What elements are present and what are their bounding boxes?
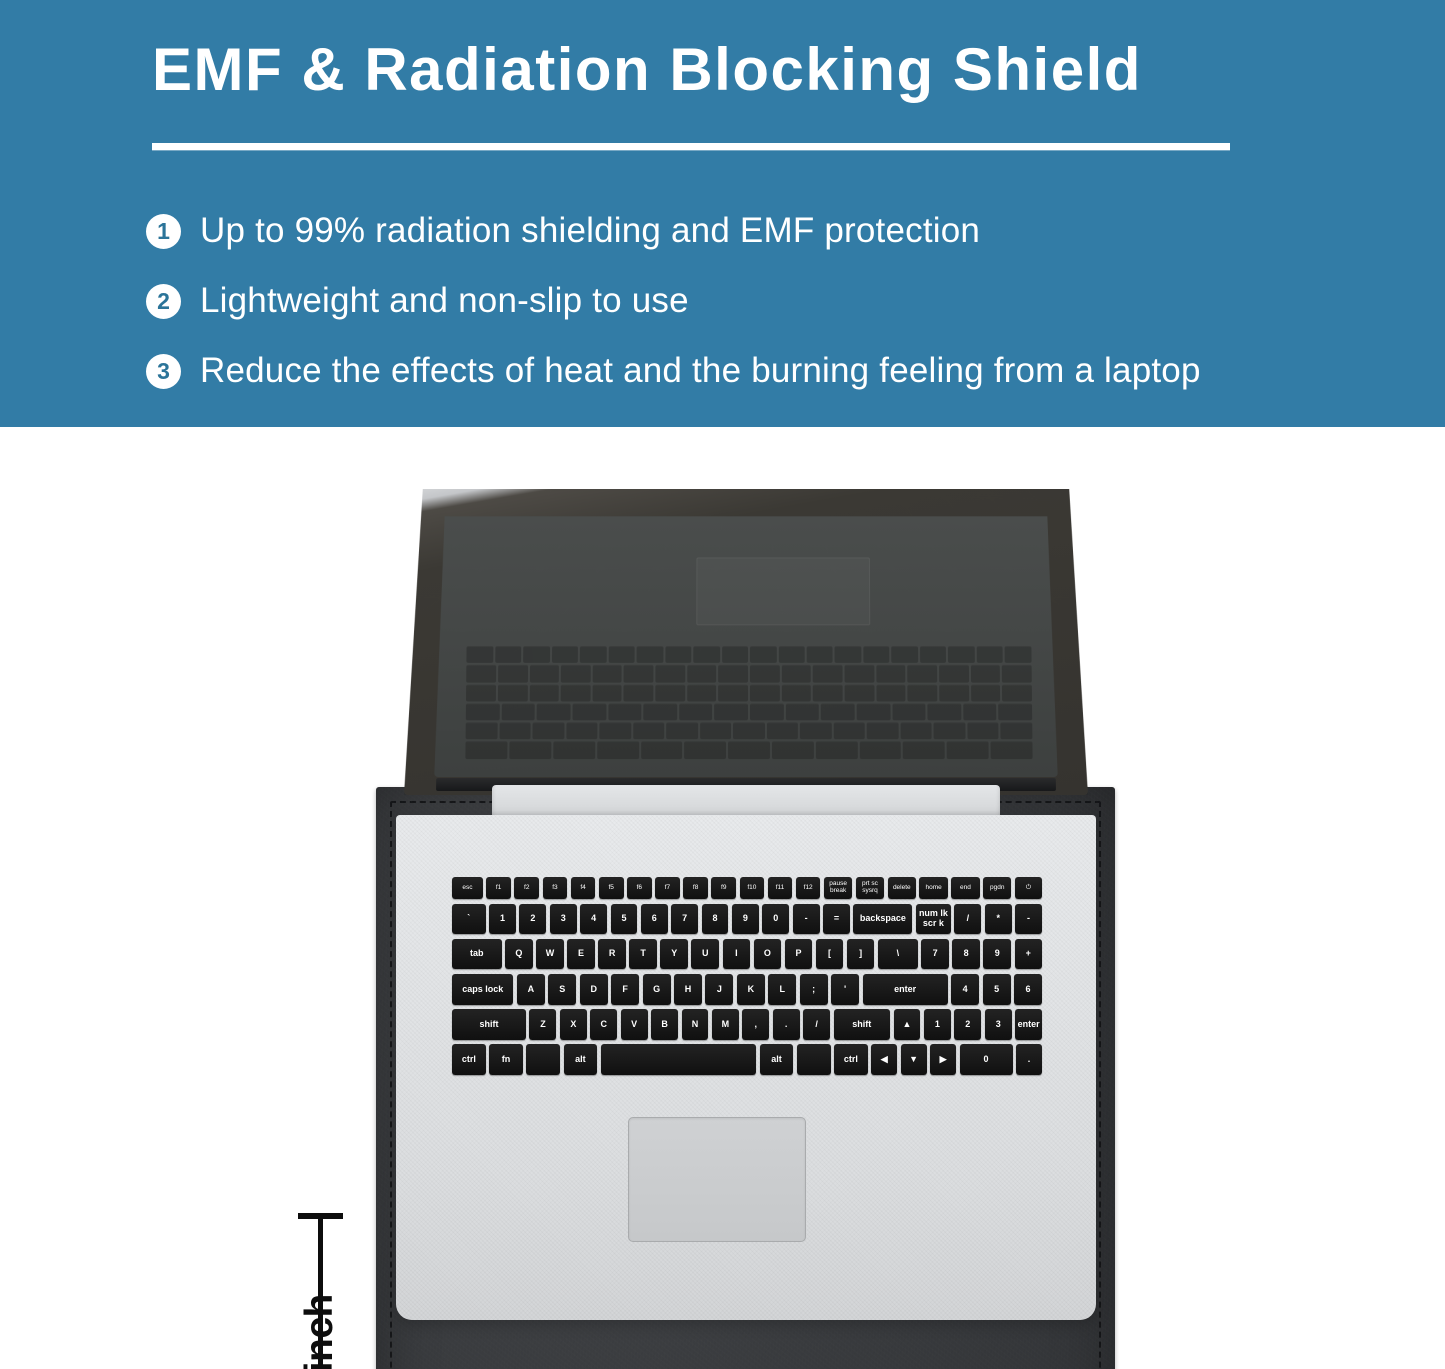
height-dimension: 19.81cm/7.8inch: [290, 1213, 350, 1369]
reflection-key: [600, 722, 632, 739]
reflection-key: [1005, 646, 1032, 663]
key: num lk scr k: [916, 904, 951, 935]
height-dimension-label: 19.81cm/7.8inch: [298, 1200, 342, 1369]
reflection-key: [592, 665, 622, 682]
laptop-lid: [404, 489, 1088, 795]
reflection-key: [656, 665, 686, 682]
key: 2: [519, 904, 546, 935]
key: f1: [486, 877, 511, 899]
reflection-key: [920, 646, 946, 663]
key: E: [567, 939, 595, 970]
screen-reflection-keyboard: [466, 646, 1033, 759]
key: [526, 1044, 560, 1075]
key: O: [754, 939, 782, 970]
reflection-key: [772, 741, 814, 758]
key: *: [985, 904, 1012, 935]
key: \: [878, 939, 918, 970]
key: f11: [768, 877, 793, 899]
key: f9: [711, 877, 736, 899]
key: Q: [505, 939, 533, 970]
key: .: [773, 1009, 800, 1040]
reflection-key: [498, 684, 528, 701]
key: ⏻: [1015, 877, 1042, 899]
reflection-key: [863, 646, 889, 663]
reflection-key: [561, 684, 591, 701]
feature-list: 1 Up to 99% radiation shielding and EMF …: [146, 196, 1406, 406]
reflection-key-row: [466, 741, 1033, 758]
reflection-key: [466, 722, 498, 739]
reflection-key: [733, 722, 764, 739]
key: A: [517, 974, 545, 1005]
reflection-key: [700, 722, 731, 739]
key: ▲: [894, 1009, 921, 1040]
reflection-key: [786, 703, 820, 720]
laptop-base: escf1f2f3f4f5f6f7f8f9f10f11f12pause brea…: [396, 815, 1096, 1320]
key: shift: [834, 1009, 891, 1040]
key: R: [598, 939, 626, 970]
reflection-key: [859, 741, 901, 758]
reflection-key: [821, 703, 855, 720]
key: enter: [1015, 1009, 1042, 1040]
key: =: [823, 904, 850, 935]
reflection-key: [845, 665, 875, 682]
reflection-key: [499, 722, 531, 739]
reflection-key: [991, 741, 1033, 758]
key: end: [951, 877, 979, 899]
key: f5: [599, 877, 624, 899]
reflection-key: [722, 646, 748, 663]
reflection-key: [466, 684, 496, 701]
reflection-key: [719, 684, 749, 701]
key: ]: [847, 939, 875, 970]
feature-text-3: Reduce the effects of heat and the burni…: [200, 351, 1406, 391]
key: 6: [1014, 974, 1042, 1005]
key: C: [590, 1009, 617, 1040]
reflection-key: [1002, 684, 1032, 701]
reflection-key: [608, 703, 642, 720]
reflection-key: [867, 722, 899, 739]
key: tab: [452, 939, 502, 970]
key: backspace: [853, 904, 912, 935]
reflection-key-row: [467, 646, 1032, 663]
key: f4: [571, 877, 596, 899]
key: ,: [742, 1009, 769, 1040]
key: W: [536, 939, 564, 970]
key: [: [816, 939, 844, 970]
keyboard-row-number: `1234567890-=backspacenum lk scr k/*-: [452, 904, 1042, 935]
feature-item-3: 3 Reduce the effects of heat and the bur…: [146, 336, 1406, 406]
key: 8: [952, 939, 980, 970]
reflection-key: [529, 684, 559, 701]
key: alt: [564, 1044, 598, 1075]
page-title: EMF & Radiation Blocking Shield: [152, 38, 1332, 101]
reflection-key: [876, 665, 906, 682]
reflection-key: [782, 684, 812, 701]
reflection-key: [1001, 722, 1033, 739]
reflection-key-row: [466, 703, 1032, 720]
reflection-key: [892, 703, 926, 720]
key: 4: [951, 974, 979, 1005]
reflection-key: [876, 684, 906, 701]
key: 1: [924, 1009, 951, 1040]
key: X: [560, 1009, 587, 1040]
key: 7: [921, 939, 949, 970]
key: prt sc sysrq: [856, 877, 884, 899]
number-badge-1-icon: 1: [146, 214, 181, 249]
key: f12: [796, 877, 821, 899]
key: [601, 1044, 756, 1075]
reflection-key: [597, 741, 639, 758]
feature-text-2: Lightweight and non-slip to use: [200, 281, 1406, 321]
key: I: [723, 939, 751, 970]
reflection-key: [947, 741, 989, 758]
key: delete: [888, 877, 916, 899]
reflection-key: [834, 722, 866, 739]
reflection-key: [684, 741, 726, 758]
key: 2: [954, 1009, 981, 1040]
reflection-key: [927, 703, 961, 720]
key: V: [621, 1009, 648, 1040]
key: ▼: [901, 1044, 927, 1075]
key: Z: [529, 1009, 556, 1040]
reflection-key: [835, 646, 861, 663]
product-infographic: EMF & Radiation Blocking Shield 1 Up to …: [0, 0, 1445, 1369]
key: 7: [671, 904, 698, 935]
key: G: [643, 974, 671, 1005]
key: U: [691, 939, 719, 970]
key: 1: [489, 904, 516, 935]
key: 5: [983, 974, 1011, 1005]
reflection-key: [728, 741, 770, 758]
reflection-key: [552, 646, 578, 663]
key: alt: [760, 1044, 794, 1075]
key: ctrl: [452, 1044, 486, 1075]
reflection-key: [592, 684, 622, 701]
key: ▶: [930, 1044, 956, 1075]
reflection-key: [637, 646, 663, 663]
reflection-key: [998, 703, 1032, 720]
laptop-screen: [434, 516, 1058, 777]
key: 5: [611, 904, 638, 935]
reflection-key: [466, 741, 508, 758]
key: F: [611, 974, 639, 1005]
reflection-key: [693, 646, 719, 663]
reflection-key: [665, 646, 691, 663]
reflection-key: [679, 703, 713, 720]
reflection-key: [977, 646, 1004, 663]
reflection-key: [608, 646, 634, 663]
keyboard-row-home: caps lockASDFGHJKL;'enter456: [452, 974, 1042, 1005]
reflection-key: [466, 665, 496, 682]
reflection-key: [845, 684, 875, 701]
reflection-key: [782, 665, 812, 682]
reflection-key-row: [466, 722, 1033, 739]
reflection-key: [509, 741, 551, 758]
key: +: [1015, 939, 1043, 970]
keyboard-row-shift: shiftZXCVBNM,./shift▲123enter: [452, 1009, 1042, 1040]
reflection-key-row: [466, 684, 1032, 701]
reflection-key: [767, 722, 798, 739]
key: 4: [580, 904, 607, 935]
reflection-key: [750, 646, 776, 663]
key: 9: [732, 904, 759, 935]
key: -: [793, 904, 820, 935]
reflection-key: [813, 665, 843, 682]
reflection-key: [719, 665, 749, 682]
reflection-key: [715, 703, 749, 720]
reflection-key: [553, 741, 595, 758]
reflection-key: [857, 703, 891, 720]
key: f10: [740, 877, 765, 899]
reflection-key: [807, 646, 833, 663]
reflection-key: [641, 741, 683, 758]
key: Y: [660, 939, 688, 970]
key: -: [1015, 904, 1042, 935]
reflection-key: [963, 703, 997, 720]
key: ': [831, 974, 859, 1005]
key: f2: [514, 877, 539, 899]
reflection-key: [467, 646, 494, 663]
reflection-key: [939, 665, 969, 682]
reflection-key: [666, 722, 697, 739]
key: 3: [985, 1009, 1012, 1040]
key: 0: [762, 904, 789, 935]
key: /: [803, 1009, 830, 1040]
key: J: [705, 974, 733, 1005]
key: 8: [702, 904, 729, 935]
key: enter: [863, 974, 948, 1005]
reflection-key: [644, 703, 678, 720]
reflection-key-row: [466, 665, 1031, 682]
number-badge-3-icon: 3: [146, 354, 181, 389]
reflection-key: [934, 722, 966, 739]
reflection-key: [750, 665, 780, 682]
reflection-key: [750, 684, 780, 701]
key: S: [548, 974, 576, 1005]
reflection-key: [750, 703, 784, 720]
key: [797, 1044, 831, 1075]
key: pgdn: [983, 877, 1011, 899]
reflection-key: [903, 741, 945, 758]
reflection-key: [971, 665, 1001, 682]
feature-item-1: 1 Up to 99% radiation shielding and EMF …: [146, 196, 1406, 266]
number-badge-2-icon: 2: [146, 284, 181, 319]
key: /: [954, 904, 981, 935]
reflection-key: [566, 722, 598, 739]
reflection-key: [687, 684, 717, 701]
reflection-key: [523, 646, 549, 663]
key: ◀: [871, 1044, 897, 1075]
reflection-key: [655, 684, 685, 701]
key: P: [785, 939, 813, 970]
key: 9: [983, 939, 1011, 970]
key: home: [919, 877, 947, 899]
reflection-key: [971, 684, 1001, 701]
key: esc: [452, 877, 483, 899]
reflection-key: [939, 684, 969, 701]
key: f8: [683, 877, 708, 899]
reflection-key: [908, 684, 938, 701]
laptop-keyboard: escf1f2f3f4f5f6f7f8f9f10f11f12pause brea…: [452, 877, 1042, 1075]
key: 0: [960, 1044, 1013, 1075]
reflection-key: [498, 665, 528, 682]
header-banner: EMF & Radiation Blocking Shield 1 Up to …: [0, 0, 1445, 427]
key: `: [452, 904, 486, 935]
product-photo: escf1f2f3f4f5f6f7f8f9f10f11f12pause brea…: [0, 427, 1445, 1369]
key: .: [1016, 1044, 1042, 1075]
keyboard-row-bottom: ctrlfnaltaltctrl◀▼▶0.: [452, 1044, 1042, 1075]
key: H: [674, 974, 702, 1005]
key: B: [651, 1009, 678, 1040]
key: shift: [452, 1009, 526, 1040]
reflection-key: [813, 684, 843, 701]
reflection-key: [948, 646, 974, 663]
key: L: [768, 974, 796, 1005]
reflection-key: [800, 722, 831, 739]
reflection-key: [561, 665, 591, 682]
keyboard-row-function: escf1f2f3f4f5f6f7f8f9f10f11f12pause brea…: [452, 877, 1042, 899]
reflection-key: [580, 646, 606, 663]
reflection-key: [624, 684, 654, 701]
reflection-key: [495, 646, 521, 663]
key: 6: [641, 904, 668, 935]
key: ctrl: [834, 1044, 868, 1075]
key: M: [712, 1009, 739, 1040]
laptop: escf1f2f3f4f5f6f7f8f9f10f11f12pause brea…: [396, 485, 1096, 1320]
key: T: [629, 939, 657, 970]
laptop-trackpad: [628, 1117, 806, 1242]
feature-text-1: Up to 99% radiation shielding and EMF pr…: [200, 211, 1406, 251]
reflection-key: [573, 703, 607, 720]
screen-reflection-trackpad: [696, 558, 870, 625]
reflection-key: [908, 665, 938, 682]
keyboard-row-top: tabQWERTYUIOP[]\789+: [452, 939, 1042, 970]
key: f6: [627, 877, 652, 899]
reflection-key: [633, 722, 665, 739]
reflection-key: [778, 646, 804, 663]
key: ;: [800, 974, 828, 1005]
key: 3: [550, 904, 577, 935]
reflection-key: [529, 665, 559, 682]
key: D: [580, 974, 608, 1005]
reflection-key: [537, 703, 571, 720]
reflection-key: [1002, 665, 1032, 682]
key: caps lock: [452, 974, 513, 1005]
reflection-key: [533, 722, 565, 739]
reflection-key: [624, 665, 654, 682]
key: f3: [543, 877, 568, 899]
key: K: [737, 974, 765, 1005]
reflection-key: [466, 703, 500, 720]
reflection-key: [501, 703, 535, 720]
key: pause break: [824, 877, 852, 899]
title-divider: [152, 143, 1230, 150]
reflection-key: [892, 646, 918, 663]
key: N: [682, 1009, 709, 1040]
feature-item-2: 2 Lightweight and non-slip to use: [146, 266, 1406, 336]
key: f7: [655, 877, 680, 899]
reflection-key: [687, 665, 717, 682]
key: fn: [489, 1044, 523, 1075]
reflection-key: [816, 741, 858, 758]
reflection-key: [900, 722, 932, 739]
reflection-key: [967, 722, 999, 739]
